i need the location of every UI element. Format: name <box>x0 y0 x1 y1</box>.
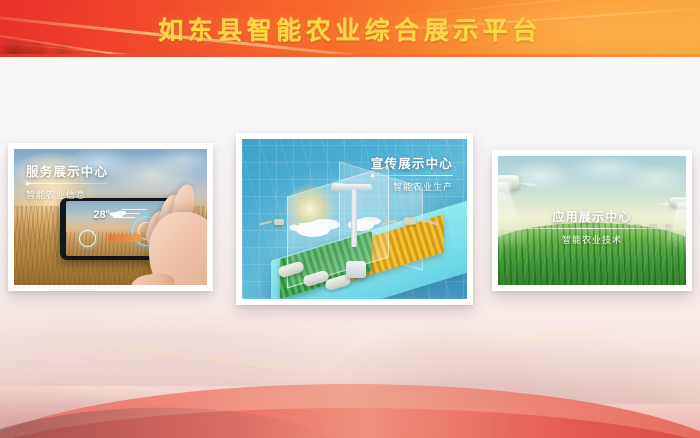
drone-icon <box>267 216 291 228</box>
ar-temperature-readout: 28° <box>93 209 110 221</box>
card-promotion-caption: 宣传展示中心 智能农业生产 <box>371 153 453 193</box>
presentation-slide: 如东县智能农业综合展示平台 28° <box>0 0 700 438</box>
caption-divider <box>371 175 453 176</box>
card-image-promotion: 宣传展示中心 智能农业生产 <box>242 139 467 299</box>
card-service-title: 服务展示中心 <box>26 161 108 180</box>
card-application-caption: 应用展示中心 智能农业技术 <box>498 208 686 246</box>
caption-divider <box>26 183 108 184</box>
card-service-subtitle: 智能农业信息 <box>26 188 108 201</box>
card-application-subtitle: 智能农业技术 <box>498 233 686 246</box>
caption-divider <box>498 228 686 229</box>
card-application-title: 应用展示中心 <box>498 208 686 225</box>
card-promotion-subtitle: 智能农业生产 <box>371 180 453 193</box>
page-title: 如东县智能农业综合展示平台 <box>0 0 700 57</box>
card-promotion-display-center[interactable]: 宣传展示中心 智能农业生产 <box>236 133 473 305</box>
control-box <box>346 261 366 278</box>
hand-graphic <box>123 182 207 285</box>
lamp-pole <box>351 189 357 247</box>
divider-dot <box>371 174 374 177</box>
card-image-service: 28° 服务展示中心 智能农业信息 <box>14 149 207 285</box>
divider-dot <box>26 182 29 185</box>
drone-icon <box>391 212 429 230</box>
card-promotion-title: 宣传展示中心 <box>371 153 453 172</box>
card-service-caption: 服务展示中心 智能农业信息 <box>26 161 108 201</box>
card-service-display-center[interactable]: 28° 服务展示中心 智能农业信息 <box>8 143 213 291</box>
ar-ring-icon <box>79 230 96 247</box>
card-application-display-center[interactable]: 应用展示中心 智能农业技术 <box>492 150 692 291</box>
card-image-application: 应用展示中心 智能农业技术 <box>498 156 686 285</box>
